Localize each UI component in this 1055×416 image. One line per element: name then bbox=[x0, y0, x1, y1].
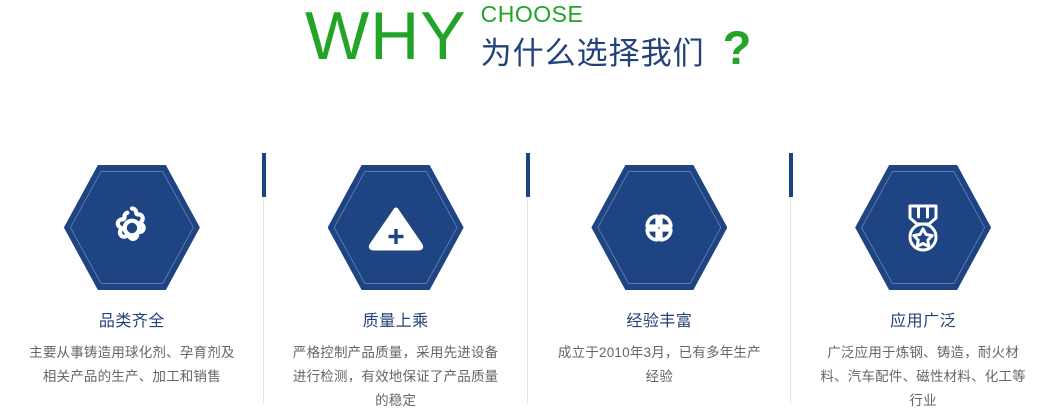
header-chinese-row: 为什么选择我们 ? bbox=[481, 30, 752, 72]
hexagon-badge-2 bbox=[328, 165, 464, 290]
feature-description: 严格控制产品质量，采用先进设备进行检测，有效地保证了产品质量的稳定 bbox=[290, 341, 502, 413]
section-header: WHY CHOOSE 为什么选择我们 ? bbox=[0, 0, 1055, 96]
header-choose-word: CHOOSE bbox=[481, 2, 752, 27]
hexagon-badge-1 bbox=[64, 165, 200, 290]
header-question-mark: ? bbox=[723, 30, 752, 66]
feature-column-3: 经验丰富 成立于2010年3月，已有多年生产经验 bbox=[528, 150, 792, 416]
hexagon-badge-3 bbox=[591, 165, 727, 290]
feature-title: 经验丰富 bbox=[626, 312, 692, 332]
feature-column-2: 质量上乘 严格控制产品质量，采用先进设备进行检测，有效地保证了产品质量的稳定 bbox=[264, 150, 528, 416]
feature-description: 主要从事铸造用球化剂、孕育剂及相关产品的生产、加工和销售 bbox=[26, 341, 238, 389]
feature-columns: 品类齐全 主要从事铸造用球化剂、孕育剂及相关产品的生产、加工和销售 质量上乘 严… bbox=[0, 150, 1055, 416]
feature-title: 应用广泛 bbox=[890, 312, 956, 332]
feature-title: 质量上乘 bbox=[363, 312, 429, 332]
header-text-stack: CHOOSE 为什么选择我们 ? bbox=[481, 0, 752, 72]
header-title-group: WHY CHOOSE 为什么选择我们 ? bbox=[305, 0, 751, 72]
feature-column-4: 应用广泛 广泛应用于炼钢、铸造，耐火材料、汽车配件、磁性材料、化工等行业 bbox=[791, 150, 1055, 416]
medal-icon bbox=[855, 165, 991, 290]
triangle-plus-icon bbox=[328, 165, 464, 290]
feature-column-1: 品类齐全 主要从事铸造用球化剂、孕育剂及相关产品的生产、加工和销售 bbox=[0, 150, 264, 416]
header-why-word: WHY bbox=[305, 0, 467, 72]
feature-description: 成立于2010年3月，已有多年生产经验 bbox=[553, 341, 765, 389]
feature-title: 品类齐全 bbox=[99, 312, 165, 332]
feature-description: 广泛应用于炼钢、铸造，耐火材料、汽车配件、磁性材料、化工等行业 bbox=[817, 341, 1029, 413]
hexagon-badge-4 bbox=[855, 165, 991, 290]
gear-icon bbox=[64, 165, 200, 290]
header-chinese-title: 为什么选择我们 bbox=[481, 36, 705, 72]
clover-icon bbox=[591, 165, 727, 290]
